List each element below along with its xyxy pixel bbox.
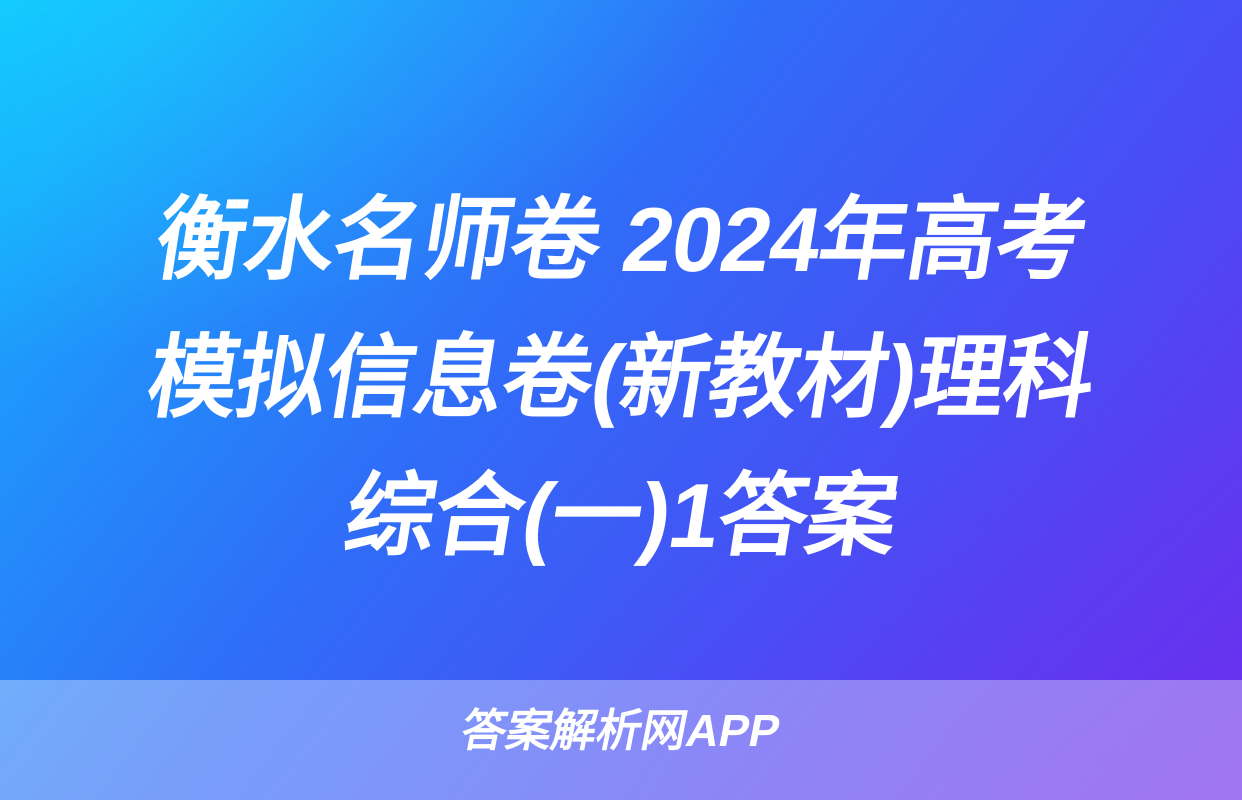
title-line-3: 综合(一)1答案 — [71, 448, 1170, 586]
footer-watermark: 答案解析网APP — [0, 697, 1242, 763]
title-line-1: 衡水名师卷 2024年高考 — [71, 172, 1170, 310]
watermark-label: 答案解析网APP — [458, 708, 784, 753]
title-line-2: 模拟信息卷(新教材)理科 — [71, 310, 1170, 448]
answer-cover-poster: 衡水名师卷 2024年高考 模拟信息卷(新教材)理科 综合(一)1答案 答案解析… — [0, 0, 1242, 800]
page-title: 衡水名师卷 2024年高考 模拟信息卷(新教材)理科 综合(一)1答案 — [0, 172, 1242, 642]
